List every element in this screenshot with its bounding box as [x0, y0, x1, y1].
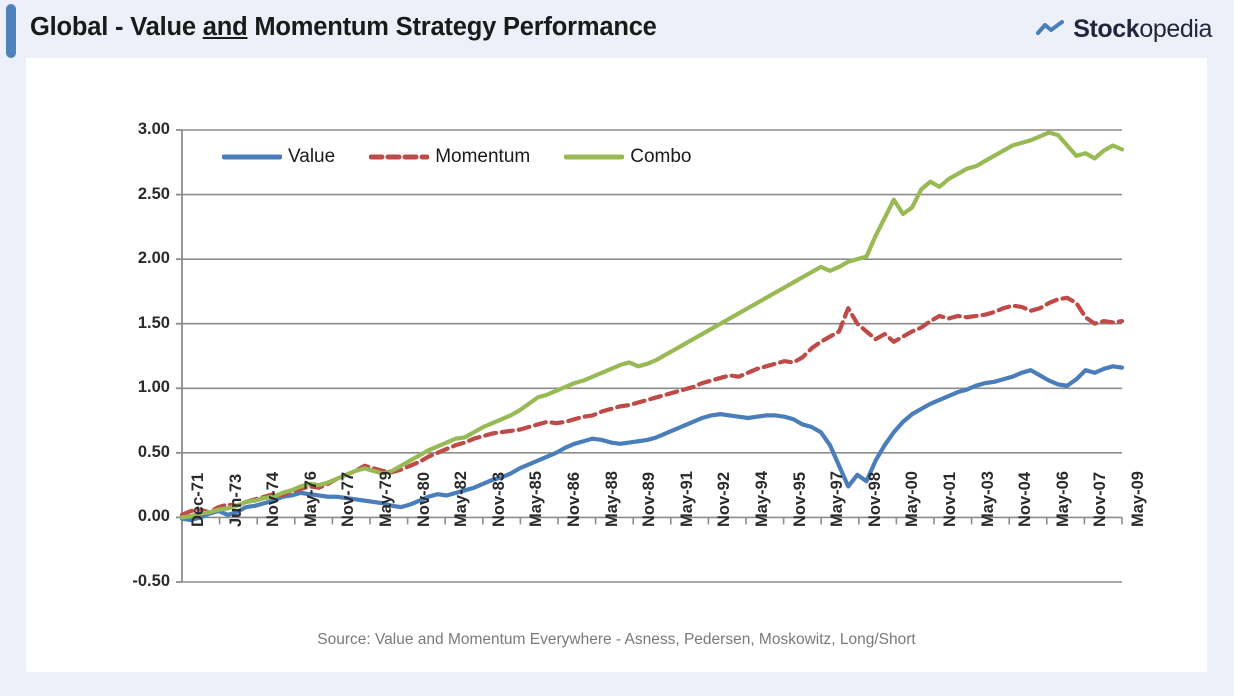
legend-swatch-combo	[564, 151, 624, 163]
x-axis-tick-label: Nov-89	[640, 472, 659, 527]
x-axis-tick-label: Nov-80	[415, 472, 434, 527]
page-title: Global - Value and Momentum Strategy Per…	[30, 13, 657, 42]
title-segment: Momentum Strategy Performance	[247, 13, 656, 41]
x-axis-tick-label: May-76	[302, 471, 321, 527]
stockopedia-logo[interactable]: Stockopedia	[1036, 13, 1212, 45]
y-axis-tick-label: 2.00	[114, 249, 170, 268]
legend-label: Value	[288, 146, 335, 168]
x-axis-tick-label: May-91	[678, 471, 697, 527]
logo-text: Stockopedia	[1073, 15, 1212, 44]
chart-card: ValueMomentumCombo Source: Value and Mom…	[26, 58, 1207, 672]
x-axis-tick-label: May-88	[603, 471, 622, 527]
x-axis-tick-label: Nov-86	[565, 472, 584, 527]
x-axis-tick-label: Nov-98	[866, 472, 885, 527]
legend-swatch-value	[222, 151, 282, 163]
legend-item-value[interactable]: Value	[222, 146, 335, 168]
title-segment: Global - Value	[30, 13, 203, 41]
x-axis-tick-label: Nov-77	[339, 472, 358, 527]
x-axis-tick-label: May-09	[1129, 471, 1148, 527]
logo-text-regular: opedia	[1139, 15, 1212, 43]
x-axis-tick-label: Nov-83	[490, 472, 509, 527]
y-axis-tick-label: -0.50	[114, 572, 170, 591]
legend-label: Combo	[630, 146, 691, 168]
page-root: Global - Value and Momentum Strategy Per…	[0, 0, 1234, 696]
x-axis-tick-label: Nov-74	[264, 472, 283, 527]
x-axis-tick-label: May-79	[377, 471, 396, 527]
x-axis-tick-label: Nov-07	[1091, 472, 1110, 527]
legend-item-combo[interactable]: Combo	[564, 146, 691, 168]
x-axis-tick-label: May-03	[979, 471, 998, 527]
y-axis-tick-label: 0.50	[114, 443, 170, 462]
logo-text-bold: Stock	[1073, 15, 1139, 43]
legend-swatch-momentum	[369, 151, 429, 163]
x-axis-tick-label: May-97	[828, 471, 847, 527]
x-axis-tick-label: Nov-01	[941, 472, 960, 527]
series-line-combo	[182, 133, 1122, 518]
legend-label: Momentum	[435, 146, 530, 168]
x-axis-tick-label: May-00	[903, 471, 922, 527]
y-axis-tick-label: 3.00	[114, 120, 170, 139]
source-note: Source: Value and Momentum Everywhere - …	[26, 631, 1207, 649]
x-axis-tick-label: Nov-95	[791, 472, 810, 527]
legend-item-momentum[interactable]: Momentum	[369, 146, 530, 168]
accent-bar	[6, 4, 16, 58]
x-axis-tick-label: May-85	[527, 471, 546, 527]
chart-legend: ValueMomentumCombo	[222, 146, 691, 168]
x-axis-tick-label: Jun-73	[227, 474, 246, 527]
stockopedia-chart-icon	[1036, 20, 1064, 38]
x-axis-tick-label: May-82	[452, 471, 471, 527]
x-axis-tick-label: Nov-04	[1016, 472, 1035, 527]
x-axis-tick-label: May-94	[753, 471, 772, 527]
line-chart: ValueMomentumCombo Source: Value and Mom…	[26, 58, 1207, 672]
y-axis-tick-label: 1.50	[114, 314, 170, 333]
x-axis-tick-label: Dec-71	[189, 473, 208, 527]
title-emphasis: and	[203, 13, 248, 41]
x-axis-tick-label: Nov-92	[715, 472, 734, 527]
x-axis-tick-label: May-06	[1054, 471, 1073, 527]
y-axis-tick-label: 1.00	[114, 378, 170, 397]
y-axis-tick-label: 2.50	[114, 185, 170, 204]
header: Global - Value and Momentum Strategy Per…	[0, 0, 1234, 58]
y-axis-tick-label: 0.00	[114, 507, 170, 526]
